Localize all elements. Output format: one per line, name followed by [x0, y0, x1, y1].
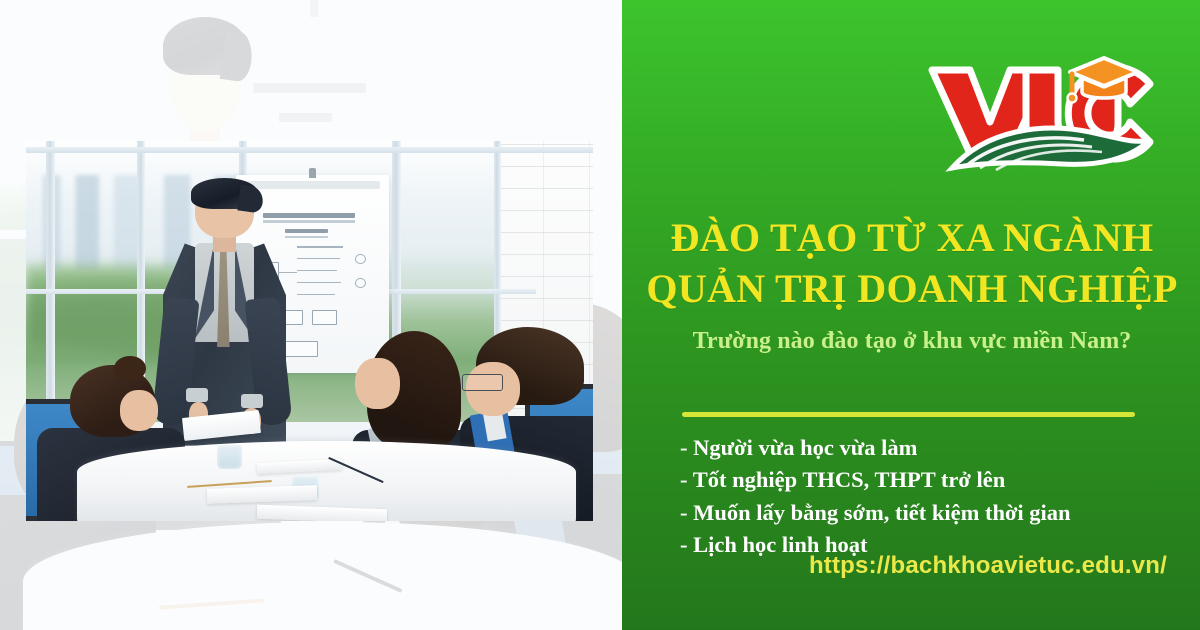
list-item: - Tốt nghiệp THCS, THPT trở lên — [680, 464, 1180, 496]
vuc-logo[interactable] — [922, 48, 1160, 172]
notebook — [183, 607, 319, 630]
page-title: ĐÀO TẠO TỪ XA NGÀNH QUẢN TRỊ DOANH NGHIỆ… — [642, 212, 1182, 314]
subtitle: Trường nào đào tạo ở khu vực miền Nam? — [642, 328, 1182, 355]
notebook — [207, 485, 317, 503]
headline-line-2: QUẢN TRỊ DOANH NGHIỆP — [642, 263, 1182, 314]
list-item: - Người vừa học vừa làm — [680, 432, 1180, 464]
content-pane: ĐÀO TẠO TỪ XA NGÀNH QUẢN TRỊ DOANH NGHIỆ… — [622, 0, 1200, 630]
presenter-cuff — [241, 394, 263, 408]
photo-inset — [26, 141, 593, 521]
headline-line-1: ĐÀO TẠO TỪ XA NGÀNH — [671, 215, 1154, 260]
benefit-list: - Người vừa học vừa làm - Tốt nghiệp THC… — [680, 432, 1180, 562]
photo-pane — [0, 0, 622, 630]
room-scene — [26, 141, 593, 521]
website-url[interactable]: https://bachkhoavietuc.edu.vn/ — [622, 552, 1167, 580]
diagram-link — [297, 246, 343, 247]
board-clip-icon — [310, 0, 319, 17]
diagram-link — [297, 282, 341, 283]
diagram-bullet-circle — [355, 278, 366, 288]
water-glass — [217, 445, 242, 469]
diagram-node — [312, 310, 336, 326]
presenter-cuff — [186, 388, 208, 402]
notebook — [256, 505, 386, 521]
glasses-icon — [462, 374, 503, 391]
presenter-hair — [237, 184, 264, 213]
meeting-table — [77, 441, 576, 521]
person-face — [120, 390, 158, 431]
diagram-link — [297, 258, 340, 259]
window-mullion — [26, 147, 593, 153]
divider — [682, 412, 1135, 417]
list-item: - Muốn lấy bằng sớm, tiết kiệm thời gian — [680, 497, 1180, 529]
water-glass — [195, 529, 226, 575]
person-hair-bun — [114, 356, 146, 381]
diagram-link — [297, 270, 337, 271]
diagram-link — [297, 294, 335, 295]
notebook — [256, 459, 341, 474]
board-clip-icon — [309, 168, 316, 178]
presenter-hair — [220, 29, 256, 82]
diagram-bullet-circle — [355, 254, 366, 264]
person-face — [355, 358, 399, 409]
promo-banner: ĐÀO TẠO TỪ XA NGÀNH QUẢN TRỊ DOANH NGHIỆ… — [0, 0, 1200, 630]
